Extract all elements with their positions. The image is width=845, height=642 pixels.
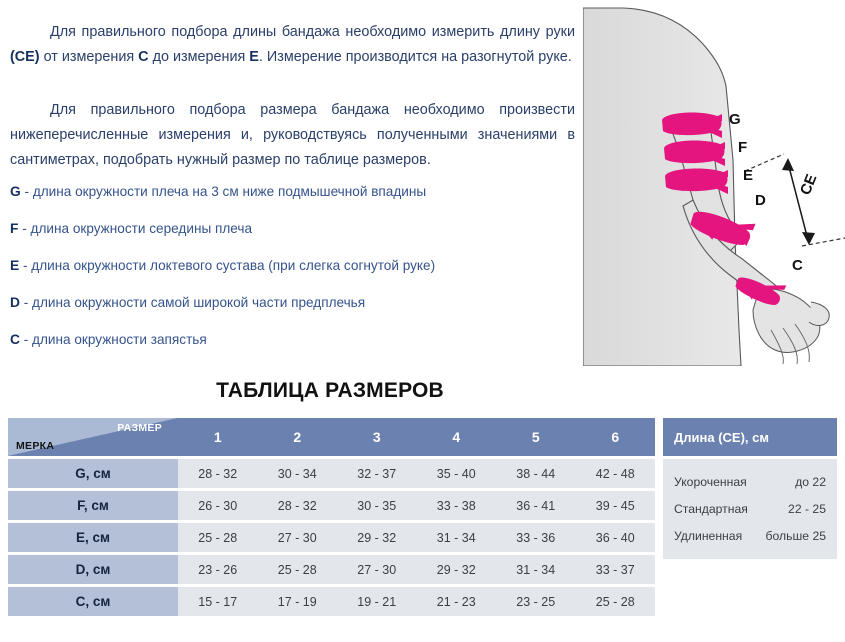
ce-label-short: Укороченная (674, 475, 747, 489)
cell-g-3: 32 - 37 (337, 467, 417, 481)
ce-table-header: Длина (CE), см (663, 418, 837, 456)
cell-d-4: 29 - 32 (417, 563, 497, 577)
cell-e-6: 36 - 40 (576, 531, 656, 545)
table-row: D, см 23 - 26 25 - 28 27 - 30 29 - 32 31… (8, 555, 655, 584)
cell-g-1: 28 - 32 (178, 467, 258, 481)
row-cells-c: 15 - 17 17 - 19 19 - 21 21 - 23 23 - 25 … (178, 587, 655, 616)
definition-text-g: - длина окружности плеча на 3 см ниже по… (21, 184, 426, 199)
ce-arrowhead-bottom (802, 232, 815, 245)
cell-d-1: 23 - 26 (178, 563, 258, 577)
cell-d-5: 31 - 34 (496, 563, 576, 577)
ce-arrowhead-top (782, 158, 794, 171)
ce-row-short: Укороченная до 22 (674, 468, 826, 495)
intro-paragraph-1: Для правильного подбора длины бандажа не… (10, 20, 575, 70)
cell-d-3: 27 - 30 (337, 563, 417, 577)
ce-row-standard: Стандартная 22 - 25 (674, 495, 826, 522)
cell-e-3: 29 - 32 (337, 531, 417, 545)
cell-c-5: 23 - 25 (496, 595, 576, 609)
row-label-c: C, см (8, 587, 178, 616)
cell-c-4: 21 - 23 (417, 595, 497, 609)
row-label-e: E, см (8, 523, 178, 552)
corner-label-size: РАЗМЕР (117, 422, 162, 434)
cell-e-1: 25 - 28 (178, 531, 258, 545)
column-header-1: 1 (178, 429, 258, 445)
table-corner-cell: РАЗМЕР МЕРКА (8, 418, 178, 456)
intro-p1-part4: . Измерение производится на разогнутой р… (259, 49, 572, 65)
illustration-label-d: D (755, 192, 766, 209)
intro-p1-part1: Для правильного подбора длины бандажа не… (50, 24, 575, 40)
row-cells-f: 26 - 30 28 - 32 30 - 35 33 - 38 36 - 41 … (178, 491, 655, 520)
definition-text-d: - длина окружности самой широкой части п… (20, 295, 365, 310)
table-row: G, см 28 - 32 30 - 34 32 - 37 35 - 40 38… (8, 459, 655, 488)
ce-value-standard: 22 - 25 (788, 502, 826, 516)
definition-key-g: G (10, 184, 21, 199)
intro-p1-bold-ce: (CE) (10, 49, 40, 65)
ce-label-standard: Стандартная (674, 502, 748, 516)
ce-row-long: Удлиненная больше 25 (674, 522, 826, 549)
illustration-label-c: C (792, 257, 803, 274)
definition-key-e: E (10, 258, 19, 273)
cell-g-2: 30 - 34 (258, 467, 338, 481)
cell-g-4: 35 - 40 (417, 467, 497, 481)
table-header-row: РАЗМЕР МЕРКА 1 2 3 4 5 6 (8, 418, 655, 456)
cell-f-6: 39 - 45 (576, 499, 656, 513)
cell-d-2: 25 - 28 (258, 563, 338, 577)
row-cells-g: 28 - 32 30 - 34 32 - 37 35 - 40 38 - 44 … (178, 459, 655, 488)
column-header-6: 6 (576, 429, 656, 445)
intro-p1-bold-c: C (138, 49, 148, 65)
ce-label-long: Удлиненная (674, 529, 742, 543)
intro-p1-part2: от измерения (40, 49, 139, 65)
column-header-5: 5 (496, 429, 576, 445)
definition-item-d: D - длина окружности самой широкой части… (10, 295, 570, 310)
illustration-label-e: E (743, 167, 753, 184)
illustration-label-g: G (729, 111, 741, 128)
cell-f-5: 36 - 41 (496, 499, 576, 513)
ce-table-body: Укороченная до 22 Стандартная 22 - 25 Уд… (663, 459, 837, 559)
row-label-f: F, см (8, 491, 178, 520)
row-label-d: D, см (8, 555, 178, 584)
thumb (809, 302, 829, 325)
definition-item-e: E - длина окружности локтевого сустава (… (10, 258, 570, 273)
cell-c-3: 19 - 21 (337, 595, 417, 609)
cell-e-2: 27 - 30 (258, 531, 338, 545)
intro-p1-bold-e: E (249, 49, 259, 65)
illustration-label-f: F (738, 139, 747, 156)
cell-g-5: 38 - 44 (496, 467, 576, 481)
cell-d-6: 33 - 37 (576, 563, 656, 577)
illustration-label-ce: CE (797, 172, 821, 198)
cell-f-4: 33 - 38 (417, 499, 497, 513)
row-label-g: G, см (8, 459, 178, 488)
definition-item-g: G - длина окружности плеча на 3 см ниже … (10, 184, 570, 199)
page-title: ТАБЛИЦА РАЗМЕРОВ (0, 379, 660, 403)
ce-value-short: до 22 (795, 475, 826, 489)
ce-value-long: больше 25 (766, 529, 826, 543)
table-row: E, см 25 - 28 27 - 30 29 - 32 31 - 34 33… (8, 523, 655, 552)
cell-f-1: 26 - 30 (178, 499, 258, 513)
column-header-3: 3 (337, 429, 417, 445)
definition-text-c: - длина окружности запястья (20, 332, 207, 347)
definition-key-c: C (10, 332, 20, 347)
size-table: РАЗМЕР МЕРКА 1 2 3 4 5 6 G, см 28 - 32 3… (8, 418, 655, 616)
cell-f-3: 30 - 35 (337, 499, 417, 513)
cell-g-6: 42 - 48 (576, 467, 656, 481)
row-cells-e: 25 - 28 27 - 30 29 - 32 31 - 34 33 - 36 … (178, 523, 655, 552)
ce-length-table: Длина (CE), см Укороченная до 22 Стандар… (663, 418, 837, 559)
arm-measurement-illustration: G F E D C CE (583, 0, 845, 366)
table-row: C, см 15 - 17 17 - 19 19 - 21 21 - 23 23… (8, 587, 655, 616)
cell-e-5: 33 - 36 (496, 531, 576, 545)
intro-paragraph-2: Для правильного подбора размера бандажа … (10, 98, 575, 173)
cell-f-2: 28 - 32 (258, 499, 338, 513)
cell-c-6: 25 - 28 (576, 595, 656, 609)
table-row: F, см 26 - 30 28 - 32 30 - 35 33 - 38 36… (8, 491, 655, 520)
cell-c-1: 15 - 17 (178, 595, 258, 609)
intro-p1-part3: до измерения (149, 49, 250, 65)
definition-item-c: C - длина окружности запястья (10, 332, 570, 347)
corner-label-measure: МЕРКА (16, 440, 54, 452)
column-header-2: 2 (258, 429, 338, 445)
definition-text-f: - длина окружности середины плеча (18, 221, 252, 236)
row-cells-d: 23 - 26 25 - 28 27 - 30 29 - 32 31 - 34 … (178, 555, 655, 584)
definition-key-d: D (10, 295, 20, 310)
intro-text-column: Для правильного подбора длины бандажа не… (0, 0, 583, 372)
definition-text-e: - длина окружности локтевого сустава (пр… (19, 258, 435, 273)
definition-item-f: F - длина окружности середины плеча (10, 221, 570, 236)
cell-e-4: 31 - 34 (417, 531, 497, 545)
column-header-4: 4 (417, 429, 497, 445)
cell-c-2: 17 - 19 (258, 595, 338, 609)
